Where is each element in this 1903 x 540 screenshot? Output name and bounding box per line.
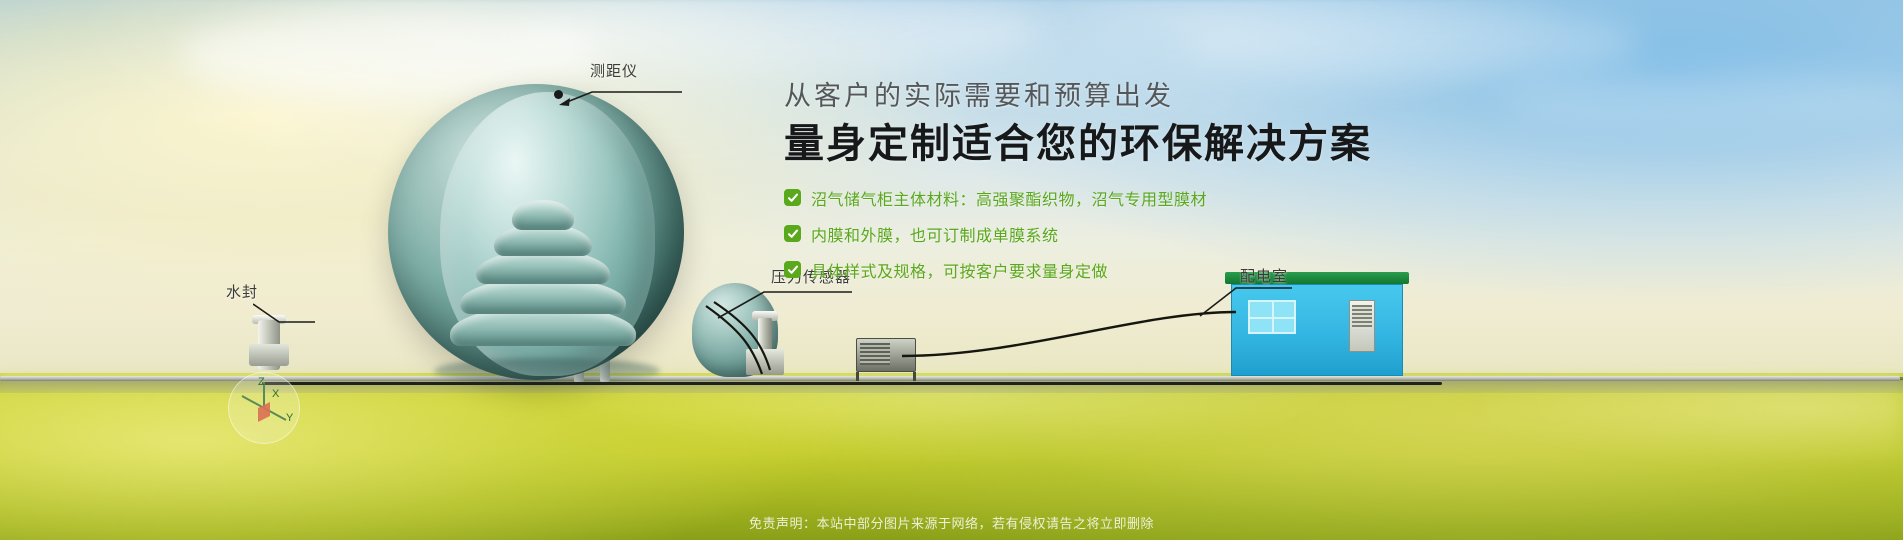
callout-line-water-seal — [253, 300, 319, 324]
water-seal-base — [249, 344, 289, 366]
cloud — [1180, 8, 1640, 78]
callout-line-rangefinder — [556, 88, 686, 110]
gizmo-label-x: X — [272, 388, 279, 400]
gizmo-label-y: Y — [286, 412, 293, 424]
hero-banner: 测距仪 水封 压力传感器 配电室 Z Y X 从客户的实际需要和预算出发 量身定… — [0, 0, 1903, 540]
blower-grill — [860, 343, 890, 365]
check-icon — [784, 261, 801, 278]
check-icon — [784, 225, 801, 242]
callout-label-water-seal: 水封 — [226, 281, 258, 302]
feature-item: 沼气储气柜主体材料：高强聚酯织物，沼气专用型膜材 — [784, 186, 1544, 210]
check-icon — [784, 189, 801, 206]
membrane-tier — [512, 200, 574, 230]
feature-label: 具体样式及规格，可按客户要求量身定做 — [811, 258, 1108, 282]
marketing-copy: 从客户的实际需要和预算出发 量身定制适合您的环保解决方案 沼气储气柜主体材料：高… — [784, 80, 1544, 294]
feature-item: 内膜和外膜，也可订制成单膜系统 — [784, 222, 1544, 246]
inner-membrane-stack — [454, 200, 630, 364]
axis-gizmo: Z Y X — [228, 372, 300, 444]
callout-label-rangefinder: 测距仪 — [590, 60, 638, 81]
cloud — [1500, 70, 1903, 130]
feature-list: 沼气储气柜主体材料：高强聚酯织物，沼气专用型膜材 内膜和外膜，也可订制成单膜系统… — [784, 186, 1544, 282]
gizmo-label-z: Z — [258, 376, 265, 388]
feature-label: 内膜和外膜，也可订制成单膜系统 — [811, 222, 1059, 246]
disclaimer-text: 免责声明：本站中部分图片来源于网络，若有侵权请告之将立即删除 — [0, 513, 1903, 532]
feature-item: 具体样式及规格，可按客户要求量身定做 — [784, 258, 1544, 282]
gas-holder-dome — [388, 84, 684, 380]
building-door-panel — [1352, 305, 1372, 329]
banner-headline: 量身定制适合您的环保解决方案 — [784, 120, 1544, 168]
banner-subtitle: 从客户的实际需要和预算出发 — [784, 80, 1544, 114]
dome-base-shadow — [434, 358, 660, 384]
feature-label: 沼气储气柜主体材料：高强聚酯织物，沼气专用型膜材 — [811, 186, 1207, 210]
